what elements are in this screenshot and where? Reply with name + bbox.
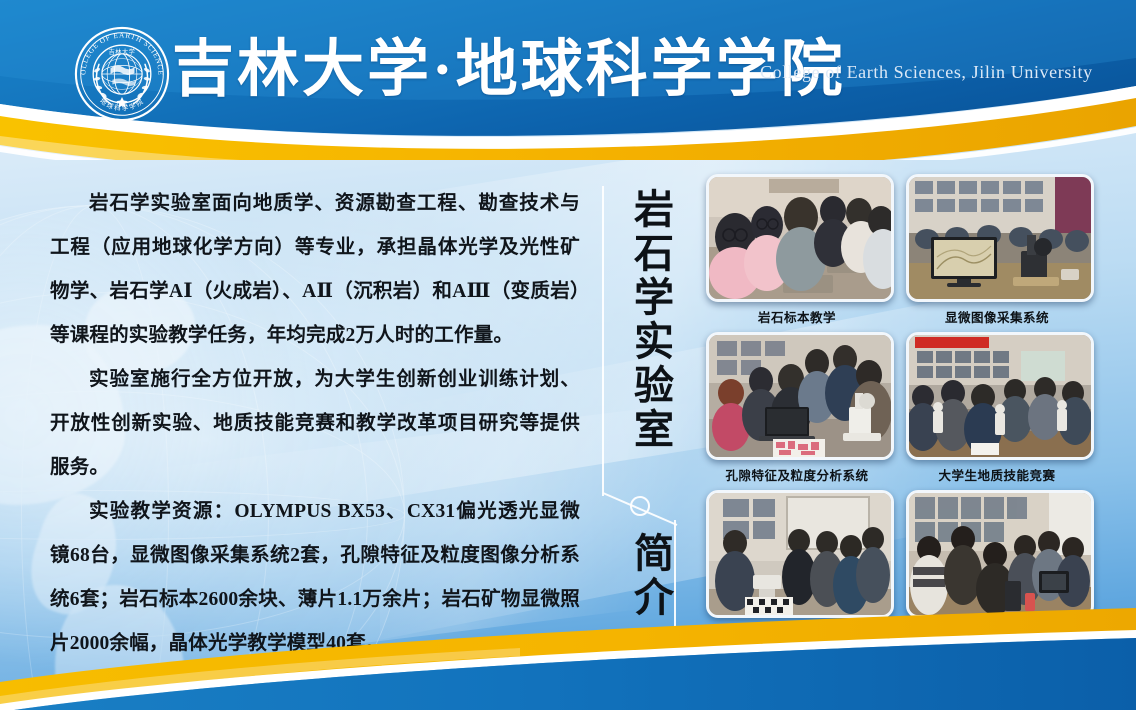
vertical-divider-line-upper bbox=[602, 186, 604, 496]
photo-gallery: 岩石标本教学 bbox=[706, 174, 1096, 634]
header-banner: COLLEGE OF EARTH SCIENCES 地球科学学院 吉林大学 19… bbox=[0, 0, 1136, 160]
photo-caption: 大学生地质技能竞赛 bbox=[906, 465, 1088, 484]
college-seal-emblem: COLLEGE OF EARTH SCIENCES 地球科学学院 吉林大学 19… bbox=[74, 26, 170, 122]
photo-caption: 岩石标本教学 bbox=[706, 307, 888, 326]
footer-swoosh-graphic bbox=[0, 600, 1136, 710]
photo-pore-grain-analysis-system[interactable] bbox=[706, 332, 894, 460]
intro-paragraph-2: 实验室施行全方位开放，为大学生创新创业训练计划、开放性创新实验、地质技能竞赛和教… bbox=[50, 358, 580, 490]
photo-micro-image-acquisition-system[interactable] bbox=[906, 174, 1094, 302]
poster-root: COLLEGE OF EARTH SCIENCES 地球科学学院 吉林大学 19… bbox=[0, 0, 1136, 710]
gallery-item[interactable]: 大学生地质技能竞赛 bbox=[906, 332, 1088, 484]
photo-international-students-visit[interactable] bbox=[906, 490, 1094, 618]
emblem-year-text: 1946 bbox=[116, 102, 127, 107]
photo-caption: 孔隙特征及粒度分析系统 bbox=[706, 465, 888, 484]
header-title-en: College of Earth Sciences, Jilin Univers… bbox=[760, 62, 1093, 83]
vertical-divider-circle bbox=[630, 496, 650, 516]
emblem-cn-top-text: 吉林大学 bbox=[109, 48, 136, 56]
intro-paragraph-1: 岩石学实验室面向地质学、资源勘查工程、勘查技术与工程（应用地球化学方向）等专业，… bbox=[50, 182, 580, 358]
section-vertical-title: 岩石学实验室 bbox=[614, 188, 676, 452]
photo-leadership-visit[interactable] bbox=[706, 490, 894, 618]
footer-banner bbox=[0, 600, 1136, 710]
gallery-item[interactable]: 显微图像采集系统 bbox=[906, 174, 1088, 326]
section-title-block: 岩石学实验室 简介 bbox=[588, 176, 694, 638]
intro-text-column: 岩石学实验室面向地质学、资源勘查工程、勘查技术与工程（应用地球化学方向）等专业，… bbox=[50, 182, 580, 666]
gallery-item[interactable]: 孔隙特征及粒度分析系统 bbox=[706, 332, 888, 484]
photo-geology-skills-competition[interactable] bbox=[906, 332, 1094, 460]
photo-caption: 显微图像采集系统 bbox=[906, 307, 1088, 326]
header-title-cn: 吉林大学·地球科学学院 bbox=[172, 30, 752, 110]
photo-rock-specimen-teaching[interactable] bbox=[706, 174, 894, 302]
gallery-item[interactable]: 岩石标本教学 bbox=[706, 174, 888, 326]
